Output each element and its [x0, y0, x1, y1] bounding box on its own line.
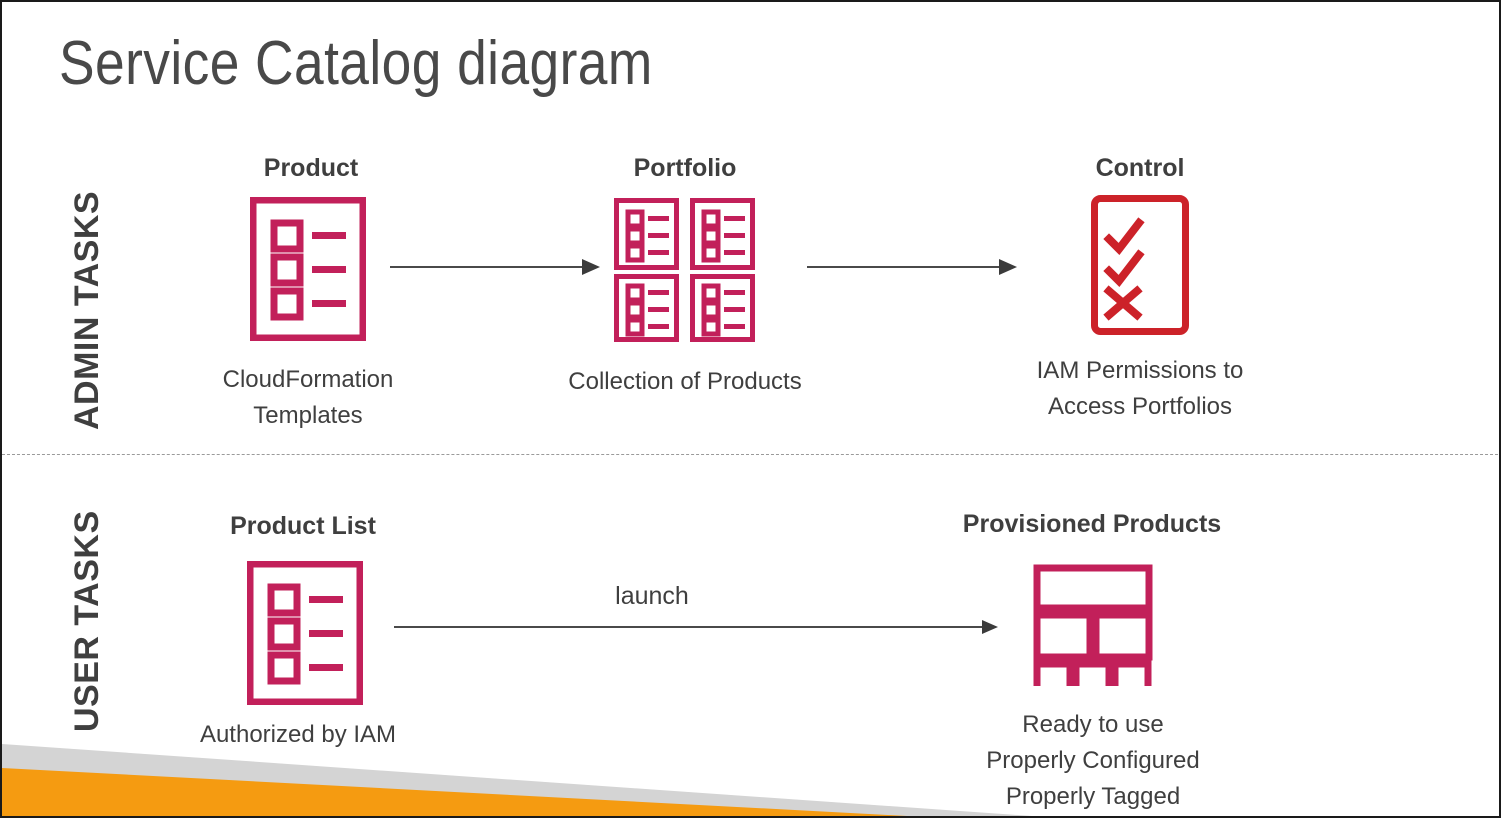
- caption-product-line1: CloudFormation: [223, 362, 394, 398]
- caption-product-list: Authorized by IAM: [200, 717, 396, 753]
- node-title-portfolio: Portfolio: [634, 154, 737, 183]
- caption-portfolio-line1: Collection of Products: [568, 364, 801, 400]
- node-title-control: Control: [1096, 154, 1185, 183]
- arrow-portfolio-to-control: [807, 252, 1019, 282]
- arrow-product-to-portfolio: [390, 252, 602, 282]
- portfolio-grid-icon: [614, 198, 756, 342]
- node-title-product: Product: [264, 154, 358, 183]
- caption-provisioned-line2: Properly Configured: [986, 743, 1199, 779]
- product-list-checklist-icon: [247, 561, 363, 705]
- arrow-label-launch: launch: [615, 582, 689, 611]
- caption-provisioned-line3: Properly Tagged: [986, 779, 1199, 815]
- page-title: Service Catalog diagram: [59, 28, 653, 99]
- caption-provisioned-products: Ready to use Properly Configured Properl…: [986, 707, 1199, 815]
- section-label-admin-tasks: ADMIN TASKS: [68, 191, 107, 430]
- slide-canvas: Service Catalog diagram ADMIN TASKS USER…: [0, 0, 1501, 818]
- caption-product-list-line1: Authorized by IAM: [200, 717, 396, 753]
- product-checklist-icon: [250, 197, 366, 341]
- node-title-provisioned-products: Provisioned Products: [963, 510, 1221, 539]
- caption-product-line2: Templates: [223, 398, 394, 434]
- provisioned-blocks-icon: [1033, 564, 1153, 686]
- control-checklist-icon: [1091, 195, 1189, 335]
- caption-portfolio: Collection of Products: [568, 364, 801, 400]
- caption-provisioned-line1: Ready to use: [986, 707, 1199, 743]
- caption-control-line1: IAM Permissions to: [1037, 353, 1244, 389]
- arrow-launch: [394, 612, 1000, 642]
- node-title-product-list: Product List: [230, 512, 376, 541]
- caption-product: CloudFormation Templates: [223, 362, 394, 434]
- section-divider: [2, 454, 1501, 455]
- caption-control: IAM Permissions to Access Portfolios: [1037, 353, 1244, 425]
- section-label-user-tasks: USER TASKS: [68, 510, 107, 732]
- caption-control-line2: Access Portfolios: [1037, 389, 1244, 425]
